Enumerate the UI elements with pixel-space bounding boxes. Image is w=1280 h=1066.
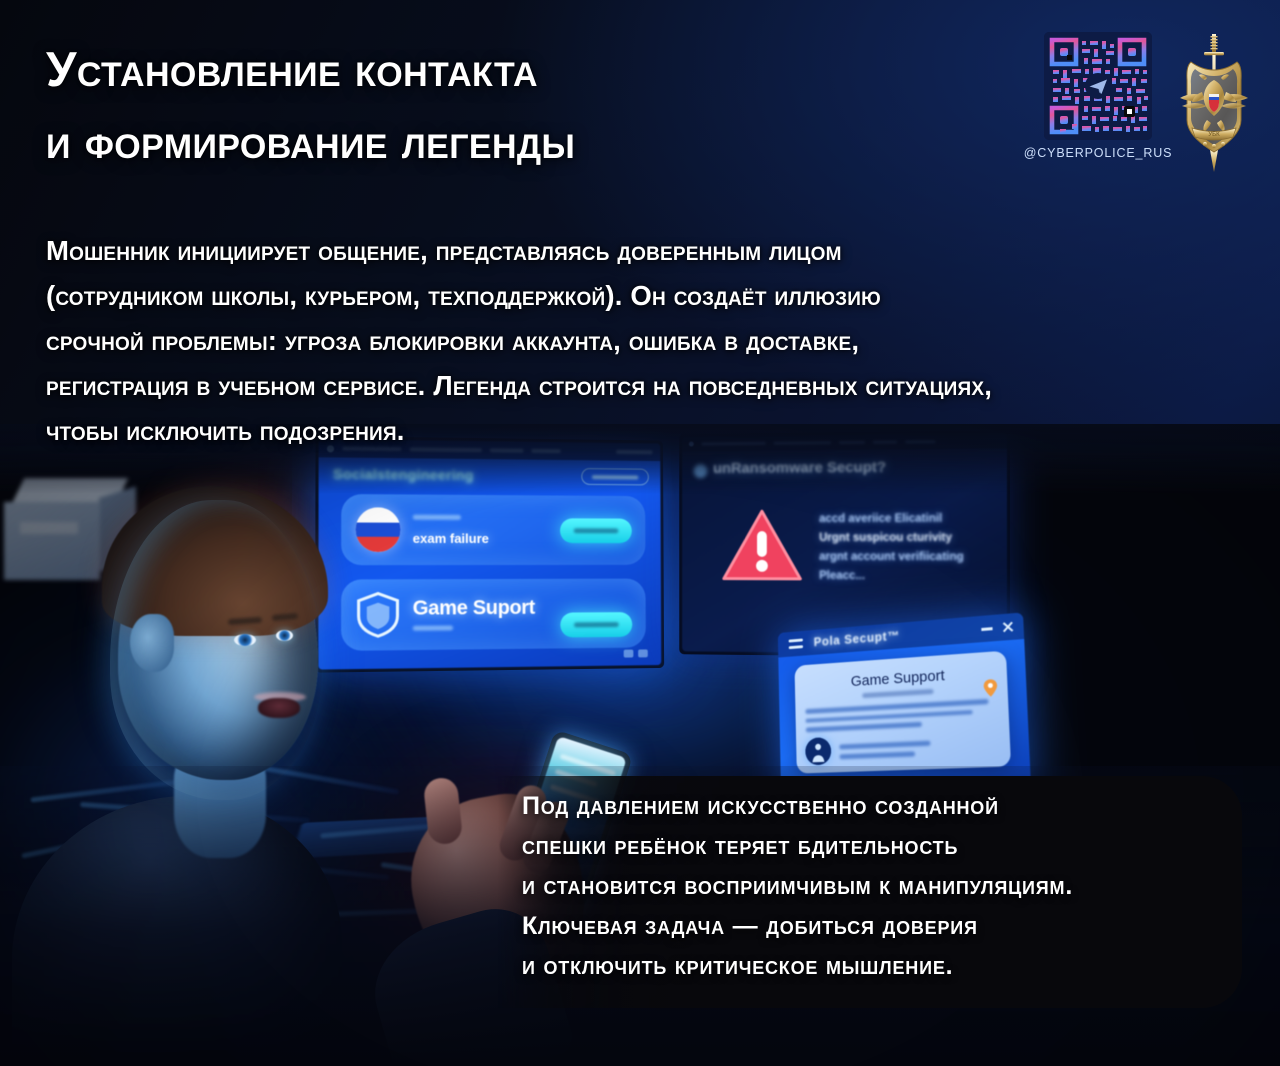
caption-line-1: Под давлением искусственно созданной — [522, 786, 1262, 826]
branding-block: @CYBERPOLICE_RUS — [1044, 32, 1250, 175]
game-support-card[interactable]: Game Support — [794, 651, 1011, 774]
close-icon[interactable] — [1002, 621, 1014, 633]
warning-triangle-icon — [721, 507, 803, 585]
alert-line-4: Pleacc... — [819, 570, 1001, 583]
game-support-card-body — [805, 698, 999, 765]
russian-police-emblem: УБК — [1178, 32, 1250, 175]
body-paragraph: Мошенник инициирует общение, представляя… — [46, 228, 1261, 453]
qr-code-block[interactable]: @CYBERPOLICE_RUS — [1044, 32, 1152, 160]
scam-card-title: exam failure — [413, 531, 489, 546]
alert-line-3: argnt account verifiicating — [819, 551, 1001, 563]
caption-text: Под давлением искусственно созданной спе… — [522, 786, 1262, 986]
user-avatar-icon — [805, 737, 831, 765]
scam-card-exam-failure[interactable]: exam failure — [341, 494, 645, 565]
body-line-1: Мошенник инициирует общение, представляя… — [46, 228, 1261, 273]
alert-line-2: Urgnt suspicou cturivity — [819, 532, 1001, 544]
body-line-4: регистрация в учебном сервисе. Легенда с… — [46, 363, 1261, 408]
minimize-icon[interactable] — [981, 627, 992, 630]
scam-card-title: Game Suport — [413, 597, 535, 621]
caption-line-2: спешки ребёнок теряет бдительность — [522, 826, 1262, 866]
emblem-banner-text: УБК — [1208, 131, 1220, 138]
laptop-app-title: Pola Secupt™ — [814, 629, 900, 649]
qr-code-graphic — [1044, 32, 1152, 140]
body-line-5: чтобы исключить подозрения. — [46, 408, 1261, 453]
page-title: Установление контакта и формирование лег… — [46, 34, 946, 178]
caption-line-4: Ключевая задача — добиться доверия — [522, 906, 1262, 946]
left-monitor-footer-icons — [624, 649, 648, 657]
hamburger-icon[interactable] — [789, 638, 804, 651]
qr-code[interactable] — [1044, 32, 1152, 140]
respond-button[interactable] — [560, 612, 632, 637]
body-line-2: (сотрудником школы, курьером, техподдерж… — [46, 273, 1261, 318]
respond-button[interactable] — [560, 518, 632, 543]
telegram-icon — [1085, 73, 1111, 99]
location-pin-icon — [982, 678, 998, 698]
title-line-1: Установление контакта — [46, 43, 538, 97]
caption-line-5: и отключить критическое мышление. — [522, 946, 1262, 986]
scam-card-game-support[interactable]: Game Suport — [341, 579, 646, 651]
caption-line-3: и становится восприимчивым к манипуляция… — [522, 866, 1262, 906]
poster-root: Установление контакта и формирование лег… — [0, 0, 1280, 1066]
qr-handle-label: @CYBERPOLICE_RUS — [1024, 146, 1173, 160]
alert-line-1: accd averiice Elicatinil — [819, 513, 1001, 526]
right-monitor-alert-text: accd averiice Elicatinil Urgnt suspicou … — [819, 513, 1001, 590]
body-line-3: срочной проблемы: угроза блокировки акка… — [46, 318, 1261, 363]
title-line-2: и формирование легенды — [46, 106, 946, 178]
game-support-card-title: Game Support — [795, 663, 1007, 694]
